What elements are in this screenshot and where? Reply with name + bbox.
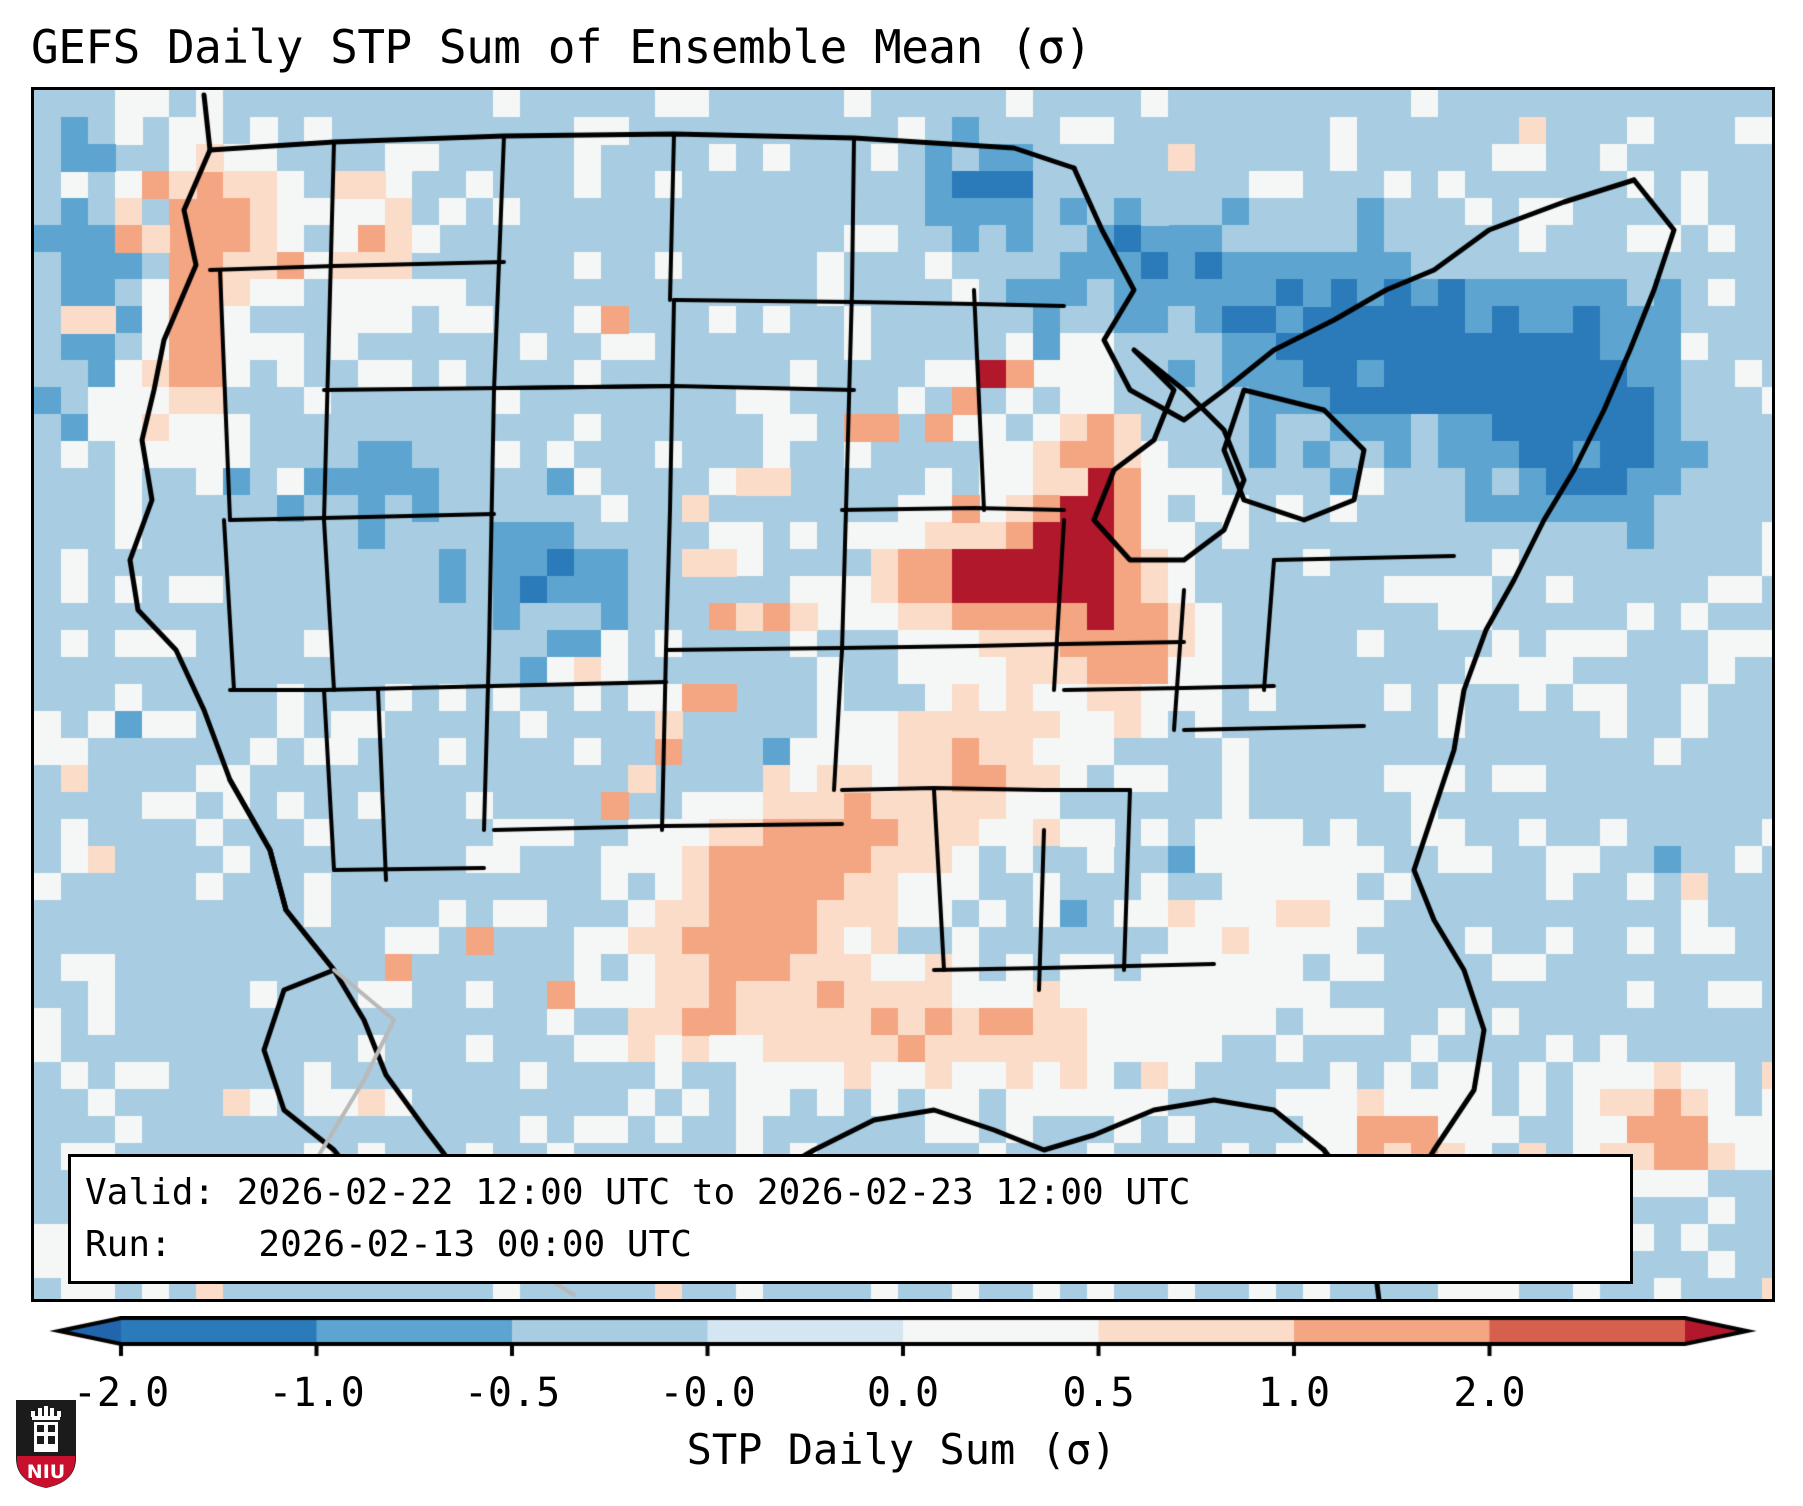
colorbar-tick-2: -0.5 — [464, 1369, 560, 1417]
niu-shield-icon: NIU — [14, 1398, 78, 1490]
colorbar[interactable] — [31, 1316, 1775, 1358]
colorbar-tick-0: -2.0 — [73, 1369, 169, 1417]
annotation-box: Valid: 2026-02-22 12:00 UTC to 2026-02-2… — [68, 1154, 1633, 1284]
valid-time-text: Valid: 2026-02-22 12:00 UTC to 2026-02-2… — [85, 1167, 1616, 1219]
colorbar-tick-7: 2.0 — [1453, 1369, 1525, 1417]
colorbar-tick-4: 0.0 — [867, 1369, 939, 1417]
colorbar-tick-6: 1.0 — [1258, 1369, 1330, 1417]
colorbar-gradient[interactable] — [31, 1316, 1775, 1358]
colorbar-tick-labels: -2.0-1.0-0.5-0.00.00.51.02.0 — [0, 1369, 1803, 1419]
niu-logo-text: NIU — [27, 1461, 65, 1483]
colorbar-axis-label: STP Daily Sum (σ) — [0, 1424, 1803, 1476]
colorbar-tick-1: -1.0 — [268, 1369, 364, 1417]
map-panel[interactable]: Valid: 2026-02-22 12:00 UTC to 2026-02-2… — [31, 87, 1775, 1302]
stp-heatmap-canvas[interactable] — [34, 90, 1772, 1299]
page-title: GEFS Daily STP Sum of Ensemble Mean (σ) — [31, 18, 1771, 76]
niu-logo: NIU — [14, 1398, 78, 1490]
run-time-text: Run: 2026-02-13 00:00 UTC — [85, 1219, 1616, 1271]
colorbar-tick-5: 0.5 — [1062, 1369, 1134, 1417]
colorbar-tick-3: -0.0 — [659, 1369, 755, 1417]
